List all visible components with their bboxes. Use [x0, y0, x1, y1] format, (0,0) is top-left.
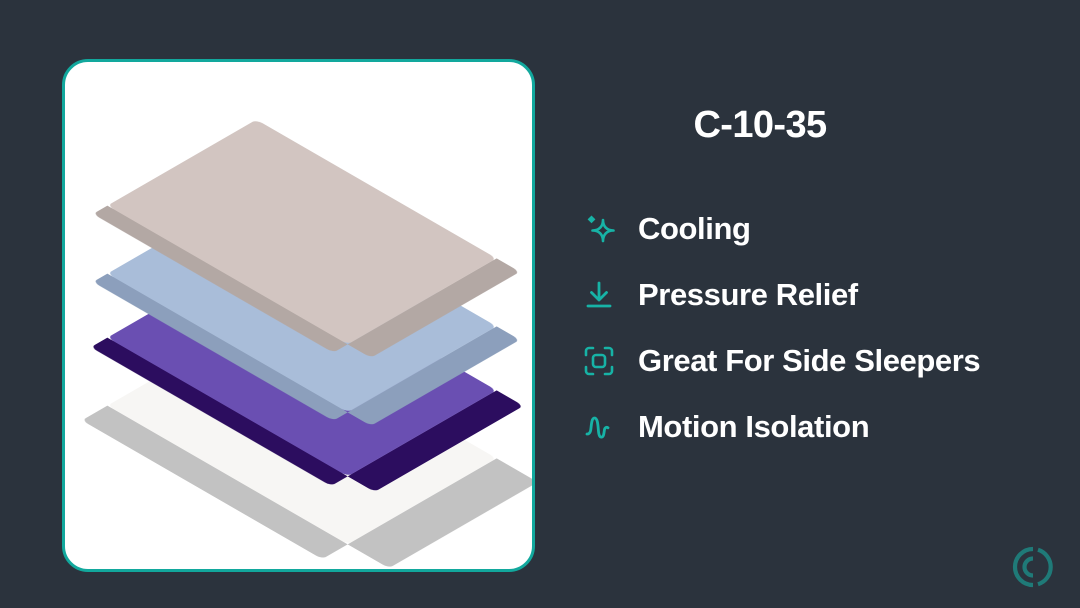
- feature-label: Pressure Relief: [638, 277, 858, 313]
- sparkle-icon: [582, 209, 628, 249]
- feature-label: Great For Side Sleepers: [638, 343, 980, 379]
- feature-item-side-sleepers: Great For Side Sleepers: [582, 328, 1080, 394]
- feature-label: Motion Isolation: [638, 409, 869, 445]
- focus-square-icon: [582, 341, 628, 381]
- arrow-down-line-icon: [582, 275, 628, 315]
- feature-item-pressure-relief: Pressure Relief: [582, 262, 1080, 328]
- mattress-layer-stack-illustration: [65, 62, 535, 572]
- mattress-layer-comfort: [168, 98, 436, 366]
- brand-logo: [1010, 544, 1056, 590]
- feature-list: Cooling Pressure Relief: [582, 196, 1080, 460]
- feature-label: Cooling: [638, 211, 751, 247]
- feature-item-motion-isolation: Motion Isolation: [582, 394, 1080, 460]
- product-image-card: [62, 59, 535, 572]
- product-title: C-10-35: [560, 104, 960, 147]
- activity-wave-icon: [582, 407, 628, 447]
- feature-item-cooling: Cooling: [582, 196, 1080, 262]
- slide-canvas: C-10-35 Cooling: [0, 0, 1080, 608]
- product-info-panel: C-10-35 Cooling: [560, 0, 1080, 608]
